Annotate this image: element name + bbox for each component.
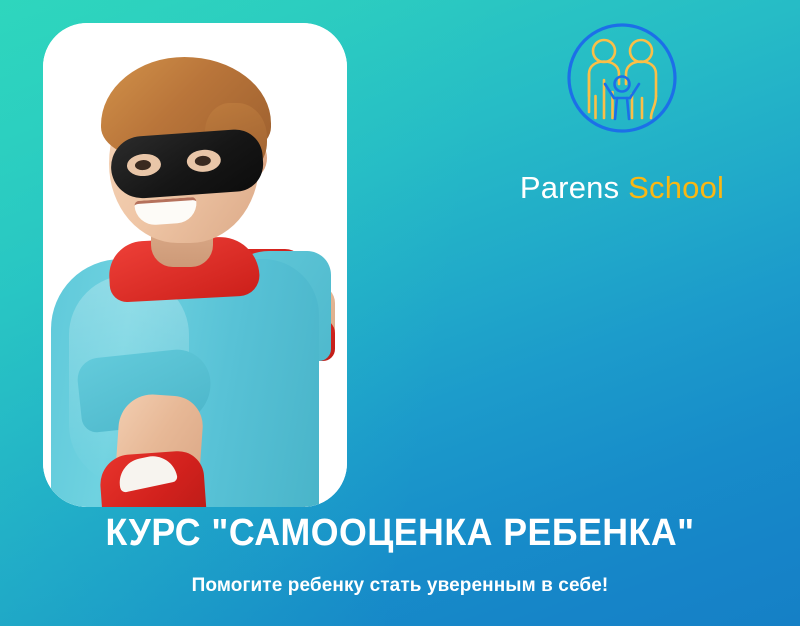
photo-stage [43,23,347,507]
brand-name: Parens School [472,172,772,203]
red-glove [98,449,207,507]
family-circle-logo-icon [562,18,682,138]
eye-hole-left [126,153,161,177]
brand-name-school: School [628,170,724,205]
superhero-eye-mask-icon [109,128,265,200]
course-subtitle: Помогите ребенку стать уверенным в себе! [0,576,800,597]
superhero-boy-photo [43,23,347,507]
brand-block: Parens School [472,18,772,203]
course-title: КУРС "САМООЦЕНКА РЕБЕНКА" [24,514,776,554]
headline-block: КУРС "САМООЦЕНКА РЕБЕНКА" Помогите ребен… [0,514,800,597]
brand-name-parens: Parens [520,170,619,205]
eye-hole-right [186,149,221,173]
promo-poster: Parens School КУРС "САМООЦЕНКА РЕБЕНКА" … [0,0,800,626]
photo-card [43,23,347,507]
